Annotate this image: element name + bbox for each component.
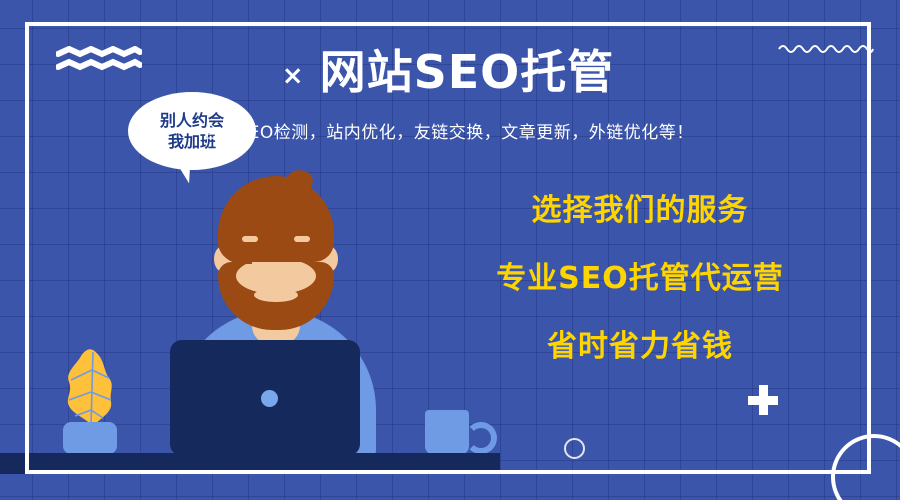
sales-points-list: 选择我们的服务 专业SEO托管代运营 省时省力省钱 — [430, 196, 850, 362]
headline-row: × 网站SEO托管 — [25, 48, 871, 96]
page-subtitle: 含：SEO检测，站内优化，友链交换，文章更新，外链优化等！ — [25, 118, 871, 143]
sales-point-2: 专业SEO托管代运营 — [496, 264, 784, 294]
title-bullet-icon: × — [282, 63, 304, 89]
sales-point-3: 省时省力省钱 — [547, 332, 733, 362]
sales-point-1: 选择我们的服务 — [532, 196, 749, 226]
page-title: 网站SEO托管 — [320, 48, 615, 96]
seo-hosting-banner: 别人约会 我加班 × 网站SEO托管 含：SEO检测，站内优化，友链交换，文章更… — [0, 0, 900, 500]
